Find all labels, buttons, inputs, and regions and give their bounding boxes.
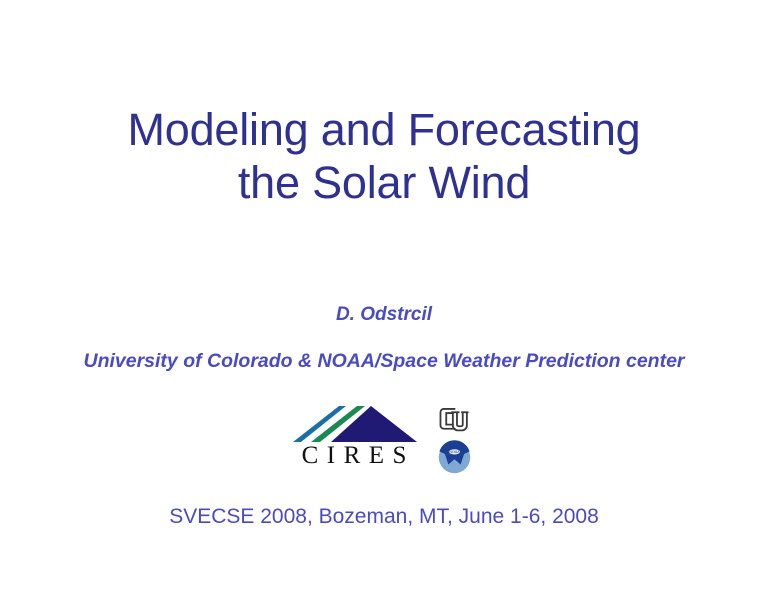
noaa-icon: NOAA — [437, 440, 472, 475]
svg-text:NOAA: NOAA — [449, 450, 460, 454]
author-name: D. Odstrcil — [0, 303, 768, 327]
title-line-2: the Solar Wind — [0, 156, 768, 209]
cires-mountain-icon — [287, 402, 422, 444]
partner-logos: NOAA — [428, 402, 482, 476]
title-line-1: Modeling and Forecasting — [0, 103, 768, 156]
author-block: D. Odstrcil University of Colorado & NOA… — [0, 303, 768, 373]
cu-boulder-icon — [438, 404, 471, 437]
page-title: Modeling and Forecasting the Solar Wind — [0, 103, 768, 209]
logo-row: CIRES NOAA — [0, 402, 768, 480]
cires-logo: CIRES — [287, 402, 422, 472]
conference-line: SVECSE 2008, Bozeman, MT, June 1-6, 2008 — [0, 504, 768, 530]
title-slide: Modeling and Forecasting the Solar Wind … — [0, 0, 768, 593]
cires-wordmark: CIRES — [287, 442, 422, 470]
author-affiliation: University of Colorado & NOAA/Space Weat… — [0, 349, 768, 373]
